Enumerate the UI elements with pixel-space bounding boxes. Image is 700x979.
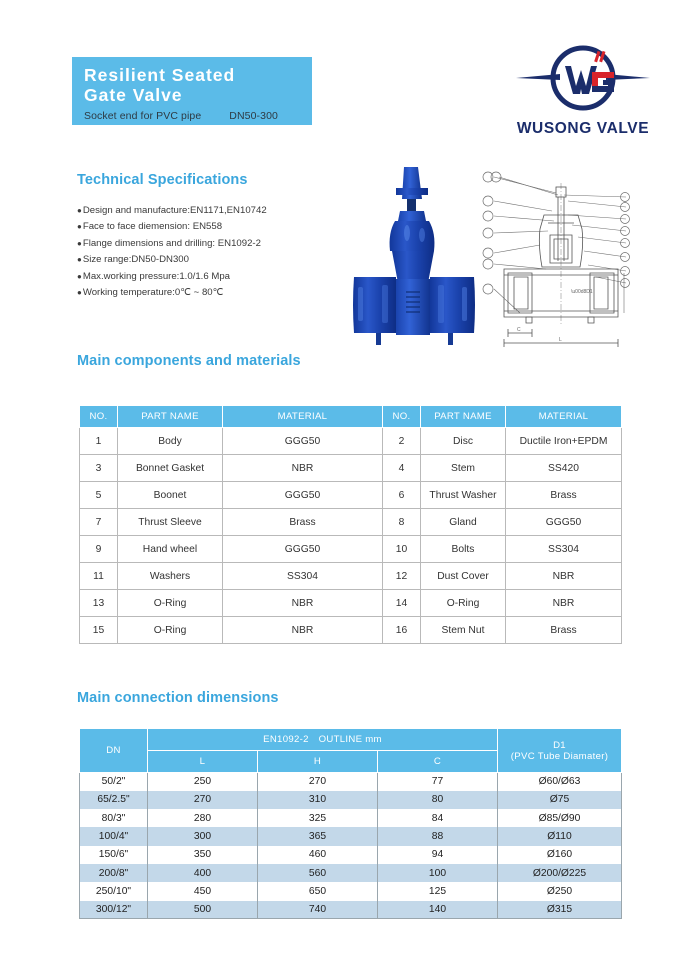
components-materials-table: NO. PART NAME MATERIAL NO. PART NAME MAT… [79,405,622,644]
col-header-d1-line2: (PVC Tube Diamater) [499,751,620,762]
cell-no-left: 5 [80,482,118,509]
cell-l: 270 [148,791,258,809]
technical-drawing: C L \u00d8D1 [468,165,630,350]
cell-material-left: NBR [223,617,383,644]
cell-material-right: Ductile Iron+EPDM [506,428,622,455]
cell-material-right: NBR [506,590,622,617]
cell-l: 300 [148,827,258,845]
table-row: 80/3" 280 325 84 Ø85/Ø90 [80,809,622,827]
cell-part-name-right: Gland [421,509,506,536]
cell-part-name-right: Thrust Washer [421,482,506,509]
table-row: 5 Boonet GGG50 6 Thrust Washer Brass [80,482,622,509]
spec-item: ● Max.working pressure:1.0/1.6 Mpa [77,269,357,285]
table-row: 50/2" 250 270 77 Ø60/Ø63 [80,773,622,791]
cell-l: 500 [148,901,258,919]
cell-h: 740 [258,901,378,919]
table-row: 9 Hand wheel GGG50 10 Bolts SS304 [80,536,622,563]
cell-material-right: NBR [506,563,622,590]
cell-material-left: GGG50 [223,428,383,455]
table-row: 15 O-Ring NBR 16 Stem Nut Brass [80,617,622,644]
spec-text: Size range:DN50-DN300 [83,252,189,268]
col-header-part-name-left: PART NAME [118,406,223,428]
col-header-dn: DN [80,729,148,773]
table-header-row-top: DN EN1092-2 OUTLINE mm D1 (PVC Tube Diam… [80,729,622,751]
cell-part-name-left: Boonet [118,482,223,509]
cell-material-left: NBR [223,455,383,482]
cell-no-right: 2 [383,428,421,455]
cell-l: 450 [148,882,258,900]
cell-no-left: 9 [80,536,118,563]
cell-h: 365 [258,827,378,845]
cell-part-name-right: Stem [421,455,506,482]
product-size-range: DN50-300 [229,110,278,122]
table-header-row: NO. PART NAME MATERIAL NO. PART NAME MAT… [80,406,622,428]
cell-part-name-left: O-Ring [118,617,223,644]
cell-l: 280 [148,809,258,827]
table-row: 250/10" 450 650 125 Ø250 [80,882,622,900]
cell-material-left: GGG50 [223,482,383,509]
cell-d1: Ø75 [498,791,622,809]
table-row: 65/2.5" 270 310 80 Ø75 [80,791,622,809]
section-heading-dimensions: Main connection dimensions [77,690,279,706]
cell-d1: Ø160 [498,846,622,864]
cell-part-name-left: Washers [118,563,223,590]
product-photo [352,163,480,353]
cell-no-left: 13 [80,590,118,617]
bullet-icon: ● [77,236,82,252]
cell-material-right: SS304 [506,536,622,563]
col-header-material-right: MATERIAL [506,406,622,428]
spec-item: ● Size range:DN50-DN300 [77,252,357,268]
cell-c: 94 [378,846,498,864]
cell-d1: Ø110 [498,827,622,845]
cell-no-right: 6 [383,482,421,509]
cell-dn: 250/10" [80,882,148,900]
cell-part-name-left: Body [118,428,223,455]
col-header-no-right: NO. [383,406,421,428]
drawing-dim-l: L [559,337,562,343]
cell-material-right: Brass [506,482,622,509]
table-row: 300/12" 500 740 140 Ø315 [80,901,622,919]
connection-dimensions-table: DN EN1092-2 OUTLINE mm D1 (PVC Tube Diam… [79,728,622,919]
cell-part-name-right: Dust Cover [421,563,506,590]
product-title-line2: Gate Valve [84,85,312,105]
valve-cross-section-drawing-icon: C L \u00d8D1 [468,165,630,350]
cell-material-left: NBR [223,590,383,617]
cell-h: 560 [258,864,378,882]
cell-no-left: 11 [80,563,118,590]
cell-l: 250 [148,773,258,791]
cell-material-left: Brass [223,509,383,536]
cell-d1: Ø60/Ø63 [498,773,622,791]
cell-h: 650 [258,882,378,900]
blue-gate-valve-photo-icon [352,163,480,353]
table-row: 150/6" 350 460 94 Ø160 [80,846,622,864]
cell-dn: 300/12" [80,901,148,919]
cell-no-left: 3 [80,455,118,482]
col-header-d1-line1: D1 [499,740,620,751]
cell-c: 125 [378,882,498,900]
table-row: 3 Bonnet Gasket NBR 4 Stem SS420 [80,455,622,482]
page-header: Resilient Seated Gate Valve Socket end f… [0,0,700,160]
cell-no-left: 15 [80,617,118,644]
cell-c: 88 [378,827,498,845]
title-subtitle-row: Socket end for PVC pipe DN50-300 [84,110,312,122]
cell-dn: 80/3" [80,809,148,827]
cell-part-name-right: Stem Nut [421,617,506,644]
col-header-l: L [148,751,258,773]
spec-text: Design and manufacture:EN1171,EN10742 [83,203,267,219]
col-header-c: C [378,751,498,773]
cell-dn: 50/2" [80,773,148,791]
bullet-icon: ● [77,219,82,235]
cell-dn: 65/2.5" [80,791,148,809]
wusong-valve-logo-icon [508,44,658,118]
cell-no-right: 16 [383,617,421,644]
cell-d1: Ø200/Ø225 [498,864,622,882]
company-logo: WUSONG VALVE [498,44,668,154]
col-header-part-name-right: PART NAME [421,406,506,428]
spec-item: ● Working temperature:0℃ ~ 80℃ [77,285,357,301]
cell-material-left: GGG50 [223,536,383,563]
cell-c: 77 [378,773,498,791]
cell-d1: Ø250 [498,882,622,900]
cell-c: 100 [378,864,498,882]
col-header-outline-group: EN1092-2 OUTLINE mm [148,729,498,751]
table-row: 7 Thrust Sleeve Brass 8 Gland GGG50 [80,509,622,536]
bullet-icon: ● [77,203,82,219]
cell-d1: Ø315 [498,901,622,919]
col-header-no-left: NO. [80,406,118,428]
bullet-icon: ● [77,285,82,301]
cell-no-left: 1 [80,428,118,455]
col-header-material-left: MATERIAL [223,406,383,428]
cell-material-right: Brass [506,617,622,644]
drawing-dim-d1: \u00d8D1 [571,289,593,295]
table-row: 11 Washers SS304 12 Dust Cover NBR [80,563,622,590]
spec-text: Max.working pressure:1.0/1.6 Mpa [83,269,230,285]
logo-wordmark: WUSONG VALVE [517,120,649,138]
cell-h: 325 [258,809,378,827]
title-banner: Resilient Seated Gate Valve Socket end f… [72,57,312,125]
cell-l: 350 [148,846,258,864]
cell-c: 84 [378,809,498,827]
spec-item: ● Design and manufacture:EN1171,EN10742 [77,203,357,219]
cell-no-right: 10 [383,536,421,563]
table-row: 1 Body GGG50 2 Disc Ductile Iron+EPDM [80,428,622,455]
cell-part-name-left: Thrust Sleeve [118,509,223,536]
cell-d1: Ø85/Ø90 [498,809,622,827]
cell-no-right: 12 [383,563,421,590]
technical-spec-list: ● Design and manufacture:EN1171,EN10742 … [77,203,357,301]
cell-c: 80 [378,791,498,809]
cell-no-right: 14 [383,590,421,617]
spec-item: ● Flange dimensions and drilling: EN1092… [77,236,357,252]
cell-dn: 200/8" [80,864,148,882]
section-heading-technical: Technical Specifications [77,172,248,188]
col-header-d1: D1 (PVC Tube Diamater) [498,729,622,773]
cell-material-right: GGG50 [506,509,622,536]
cell-dn: 100/4" [80,827,148,845]
cell-no-right: 4 [383,455,421,482]
spec-item: ● Face to face diemension: EN558 [77,219,357,235]
cell-part-name-left: O-Ring [118,590,223,617]
cell-material-left: SS304 [223,563,383,590]
cell-part-name-left: Bonnet Gasket [118,455,223,482]
table-row: 200/8" 400 560 100 Ø200/Ø225 [80,864,622,882]
cell-h: 460 [258,846,378,864]
product-title-line1: Resilient Seated [84,65,312,85]
cell-dn: 150/6" [80,846,148,864]
cell-part-name-right: Disc [421,428,506,455]
spec-text: Flange dimensions and drilling: EN1092-2 [83,236,261,252]
spec-text: Face to face diemension: EN558 [83,219,222,235]
table-row: 100/4" 300 365 88 Ø110 [80,827,622,845]
cell-no-left: 7 [80,509,118,536]
table-row: 13 O-Ring NBR 14 O-Ring NBR [80,590,622,617]
cell-no-right: 8 [383,509,421,536]
cell-h: 310 [258,791,378,809]
cell-h: 270 [258,773,378,791]
cell-part-name-right: Bolts [421,536,506,563]
cell-part-name-right: O-Ring [421,590,506,617]
cell-l: 400 [148,864,258,882]
cell-c: 140 [378,901,498,919]
product-subtitle: Socket end for PVC pipe [84,110,201,122]
bullet-icon: ● [77,252,82,268]
cell-part-name-left: Hand wheel [118,536,223,563]
cell-material-right: SS420 [506,455,622,482]
col-header-h: H [258,751,378,773]
bullet-icon: ● [77,269,82,285]
drawing-dim-c: C [517,327,521,333]
spec-text: Working temperature:0℃ ~ 80℃ [83,285,224,301]
section-heading-components: Main components and materials [77,353,301,369]
